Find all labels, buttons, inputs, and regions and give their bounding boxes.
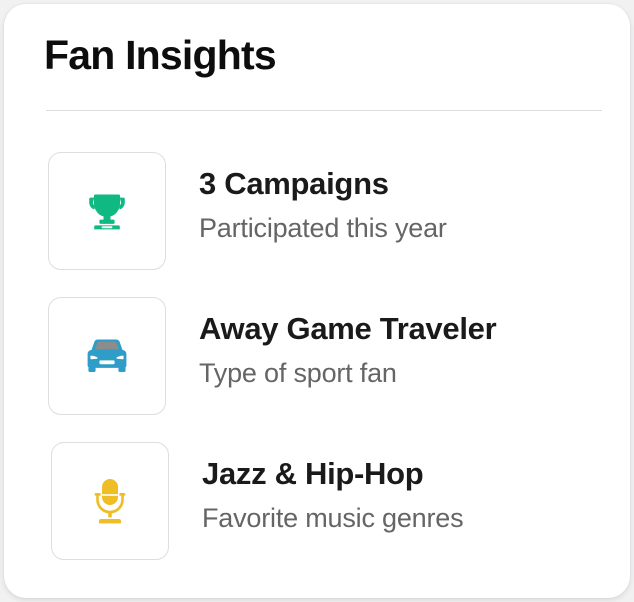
car-icon [80,334,134,378]
insight-subtitle: Participated this year [199,212,447,244]
card-header: Fan Insights [44,34,598,77]
fan-insights-card: Fan Insights [4,4,630,598]
insight-subtitle: Type of sport fan [199,357,496,389]
trophy-icon [81,185,133,237]
list-item[interactable]: 3 Campaigns Participated this year [4,144,630,289]
header-divider [46,110,602,111]
insight-icon-box [48,297,166,415]
insight-subtitle: Favorite music genres [202,502,463,534]
insight-text: 3 Campaigns Participated this year [199,144,447,244]
list-item[interactable]: Jazz & Hip-Hop Favorite music genres [4,434,630,579]
page-title: Fan Insights [44,34,598,77]
insight-title: Jazz & Hip-Hop [202,456,463,492]
insights-list: 3 Campaigns Participated this year [4,144,630,579]
insight-text: Jazz & Hip-Hop Favorite music genres [202,434,463,534]
insight-icon-box [51,442,169,560]
insight-title: Away Game Traveler [199,311,496,347]
insight-title: 3 Campaigns [199,166,447,202]
insight-text: Away Game Traveler Type of sport fan [199,289,496,389]
insight-icon-box [48,152,166,270]
list-item[interactable]: Away Game Traveler Type of sport fan [4,289,630,434]
microphone-icon [85,475,135,527]
